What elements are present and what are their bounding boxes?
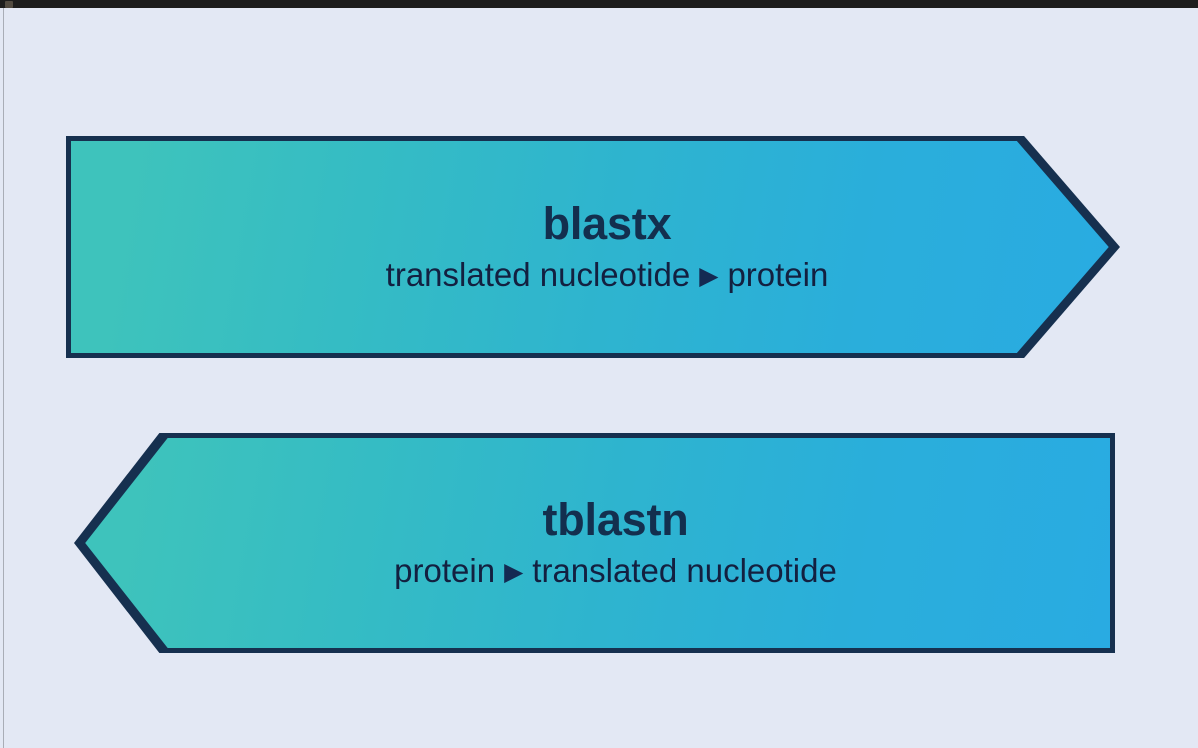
window-titlebar [0,0,1198,8]
arrow-subtitle-tblastn: protein ▶ translated nucleotide [394,554,837,589]
arrow-subtitle-blastx: translated nucleotide ▶ protein [386,258,829,293]
arrow-content-blastx: blastx translated nucleotide ▶ protein [85,201,1129,293]
arrow-shape-tblastn[interactable]: tblastn protein ▶ translated nucleotide [74,433,1115,653]
flow-arrow-icon: ▶ [504,560,523,585]
arrow-content-tblastn: tblastn protein ▶ translated nucleotide [100,497,1131,589]
app-icon [5,1,13,8]
subtitle-target-blastx: protein [727,258,828,293]
arrow-title-tblastn: tblastn [542,497,688,542]
arrow-title-blastx: blastx [543,201,672,246]
subtitle-source-blastx: translated nucleotide [386,258,691,293]
subtitle-target-tblastn: translated nucleotide [532,554,837,589]
window-left-edge [3,8,4,748]
flow-arrow-icon: ▶ [699,264,718,289]
diagram-canvas: blastx translated nucleotide ▶ protein t… [0,8,1198,748]
arrow-shape-blastx[interactable]: blastx translated nucleotide ▶ protein [66,136,1120,358]
app-root: blastx translated nucleotide ▶ protein t… [0,0,1198,748]
subtitle-source-tblastn: protein [394,554,495,589]
